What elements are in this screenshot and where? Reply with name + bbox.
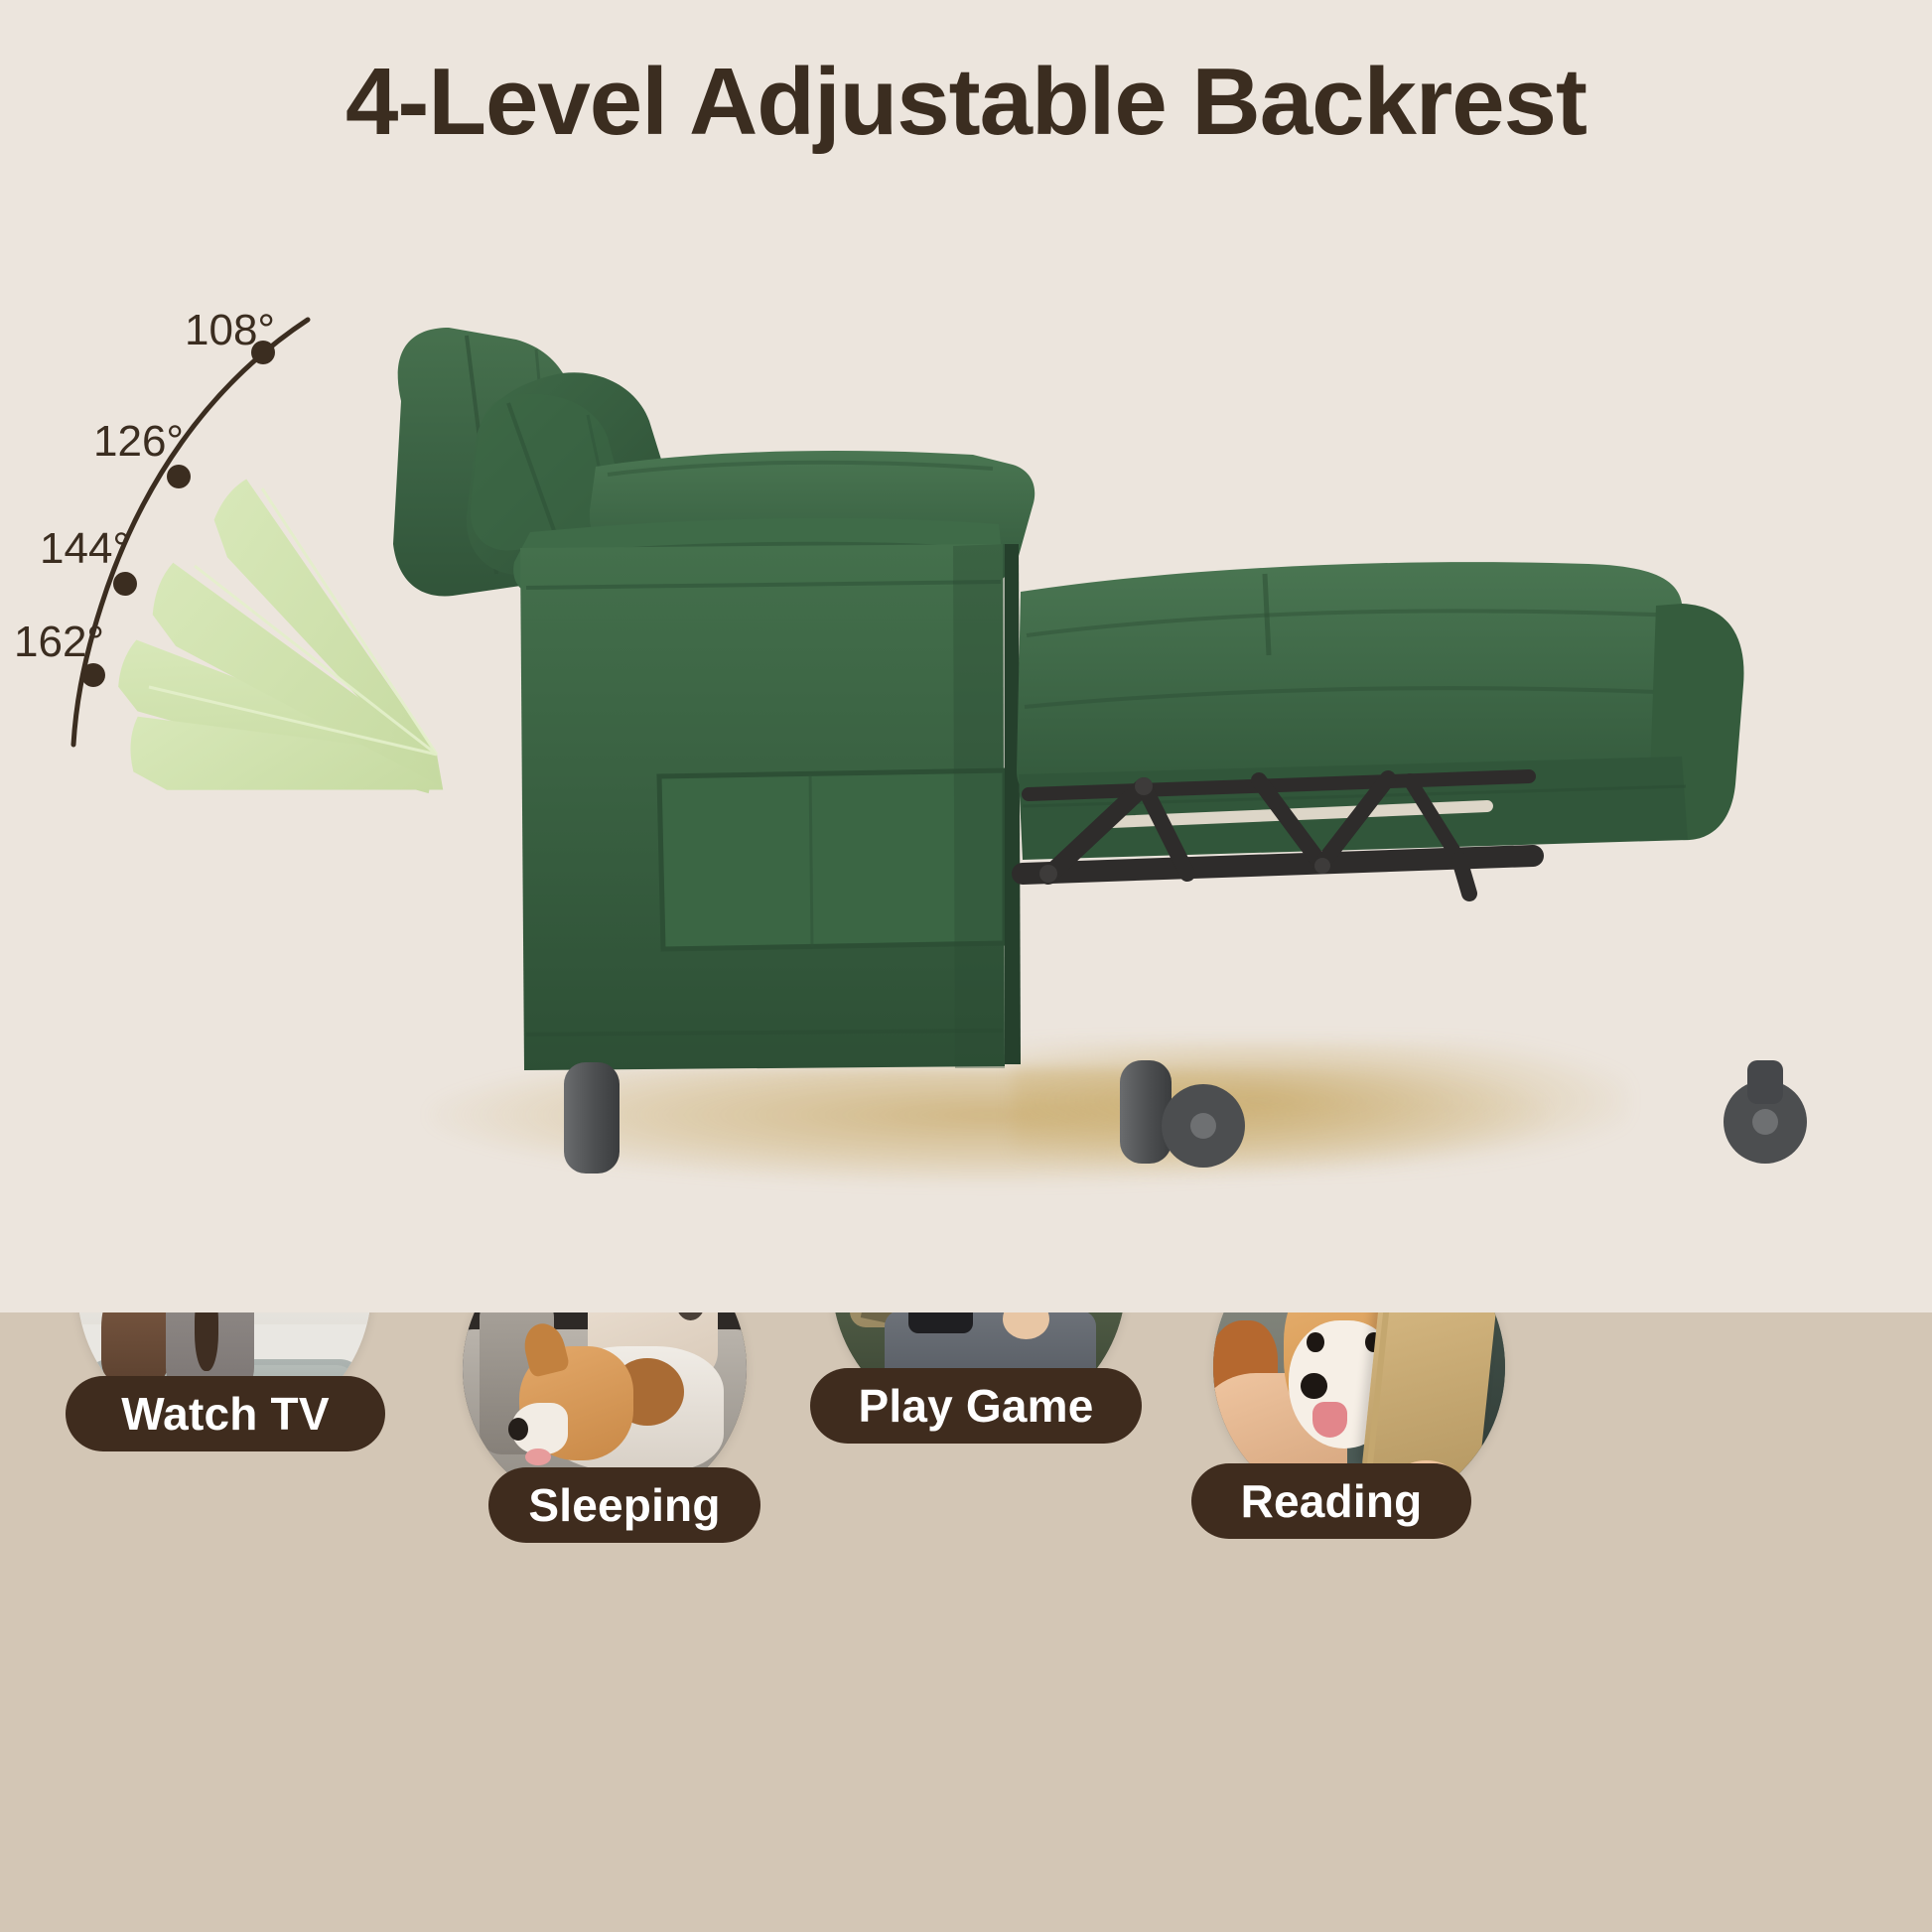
hinge-gap: [1005, 544, 1021, 1064]
sofa-side-panel: [520, 544, 1005, 1070]
scene-label-sleeping[interactable]: Sleeping: [488, 1467, 760, 1543]
scene-label-play-game[interactable]: Play Game: [810, 1368, 1142, 1444]
side-pocket: [659, 770, 1005, 949]
use-scenes-panel: Watch TV Sleeping: [0, 1312, 1932, 1932]
sofa-product-image: [0, 0, 1932, 1312]
leg-front-left: [564, 1062, 620, 1173]
caster-left: [1162, 1084, 1245, 1168]
scene-label-watch-tv[interactable]: Watch TV: [66, 1376, 385, 1451]
leg-front-right: [1120, 1060, 1172, 1164]
legs-and-casters: [564, 1060, 1807, 1173]
top-panel: 4-Level Adjustable Backrest: [0, 0, 1932, 1312]
scene-label-reading[interactable]: Reading: [1191, 1463, 1471, 1539]
caster-right: [1724, 1060, 1807, 1164]
product-infographic: 4-Level Adjustable Backrest: [0, 0, 1932, 1932]
